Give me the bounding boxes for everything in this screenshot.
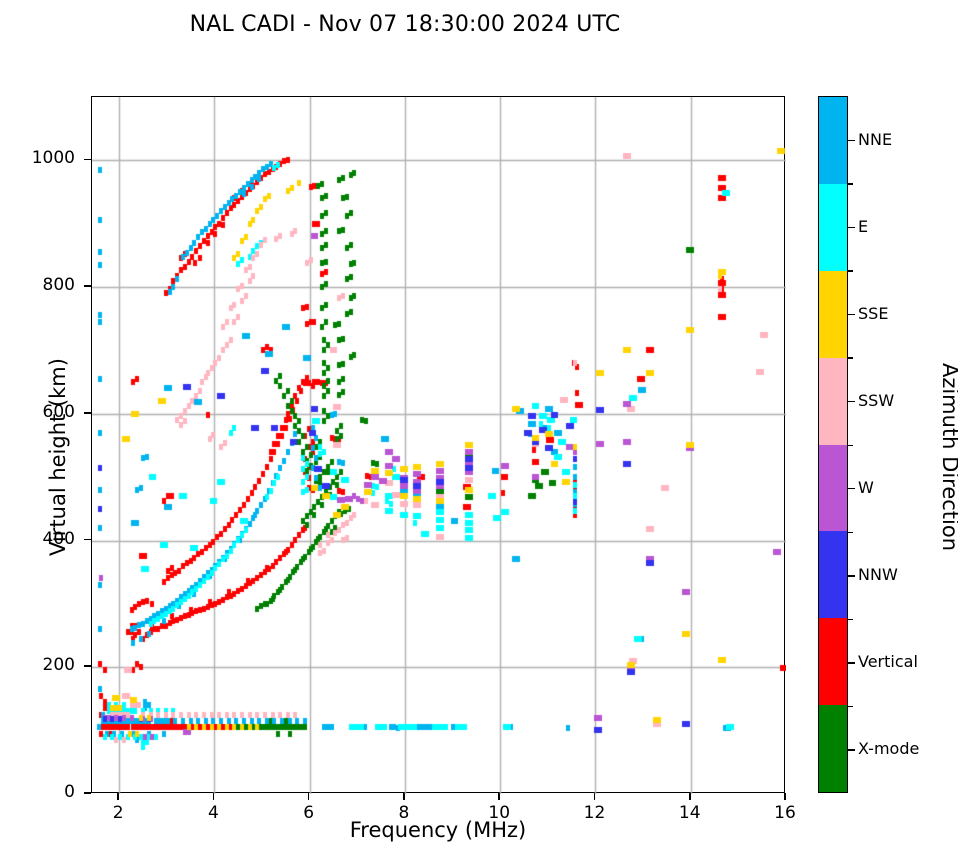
colorbar-boundary-tick (848, 270, 853, 271)
colorbar-tick-mark (848, 401, 855, 402)
plot-area (91, 96, 785, 793)
colorbar-label: Azimuth Direction (938, 307, 958, 607)
colorbar-boundary-tick (848, 183, 853, 184)
colorbar-segment-w (819, 445, 847, 532)
colorbar-segment-sse (819, 271, 847, 358)
y-tick-label: 800 (13, 275, 75, 295)
x-tick-mark (117, 793, 119, 800)
colorbar-tick-mark (848, 749, 855, 750)
colorbar-tick-mark (848, 140, 855, 141)
echo-scatter-layer (92, 97, 786, 794)
colorbar-segment-vertical (819, 618, 847, 705)
y-tick-label: 0 (13, 782, 75, 802)
colorbar-label-ssw: SSW (858, 391, 894, 410)
chart-title: NAL CADI - Nov 07 18:30:00 2024 UTC (0, 12, 810, 37)
colorbar-tick-mark (848, 488, 855, 489)
colorbar-segment-nne (819, 97, 847, 184)
colorbar-label-nnw: NNW (858, 565, 898, 584)
y-tick-mark (84, 539, 91, 541)
colorbar-label-x-mode: X-mode (858, 739, 919, 758)
y-tick-label: 1000 (13, 148, 75, 168)
y-tick-mark (84, 792, 91, 794)
ionogram-figure: NAL CADI - Nov 07 18:30:00 2024 UTC 2468… (0, 0, 958, 857)
x-tick-mark (213, 793, 215, 800)
colorbar-boundary-tick (848, 619, 853, 620)
colorbar-label-w: W (858, 478, 874, 497)
y-tick-label: 200 (13, 655, 75, 675)
y-tick-mark (84, 665, 91, 667)
x-tick-mark (689, 793, 691, 800)
x-tick-mark (498, 793, 500, 800)
y-axis-label: Virtual height (km) (46, 307, 70, 607)
colorbar-segment-ssw (819, 358, 847, 445)
colorbar-label-vertical: Vertical (858, 652, 918, 671)
colorbar-tick-mark (848, 227, 855, 228)
colorbar-boundary-tick (848, 357, 853, 358)
x-tick-mark (784, 793, 786, 800)
colorbar-boundary-tick (848, 445, 853, 446)
y-tick-mark (84, 412, 91, 414)
colorbar-segment-x-mode (819, 705, 847, 792)
colorbar-boundary-tick (848, 532, 853, 533)
colorbar-tick-mark (848, 662, 855, 663)
x-axis-label: Frequency (MHz) (91, 818, 785, 842)
colorbar-boundary-tick (848, 706, 853, 707)
colorbar (818, 96, 848, 793)
colorbar-segment-e (819, 184, 847, 271)
x-tick-mark (403, 793, 405, 800)
y-tick-mark (84, 285, 91, 287)
colorbar-label-sse: SSE (858, 304, 888, 323)
colorbar-label-e: E (858, 217, 868, 236)
colorbar-tick-mark (848, 575, 855, 576)
y-tick-mark (84, 159, 91, 161)
colorbar-tick-mark (848, 314, 855, 315)
colorbar-segment-nnw (819, 531, 847, 618)
x-tick-mark (308, 793, 310, 800)
colorbar-label-nne: NNE (858, 130, 892, 149)
x-tick-mark (594, 793, 596, 800)
